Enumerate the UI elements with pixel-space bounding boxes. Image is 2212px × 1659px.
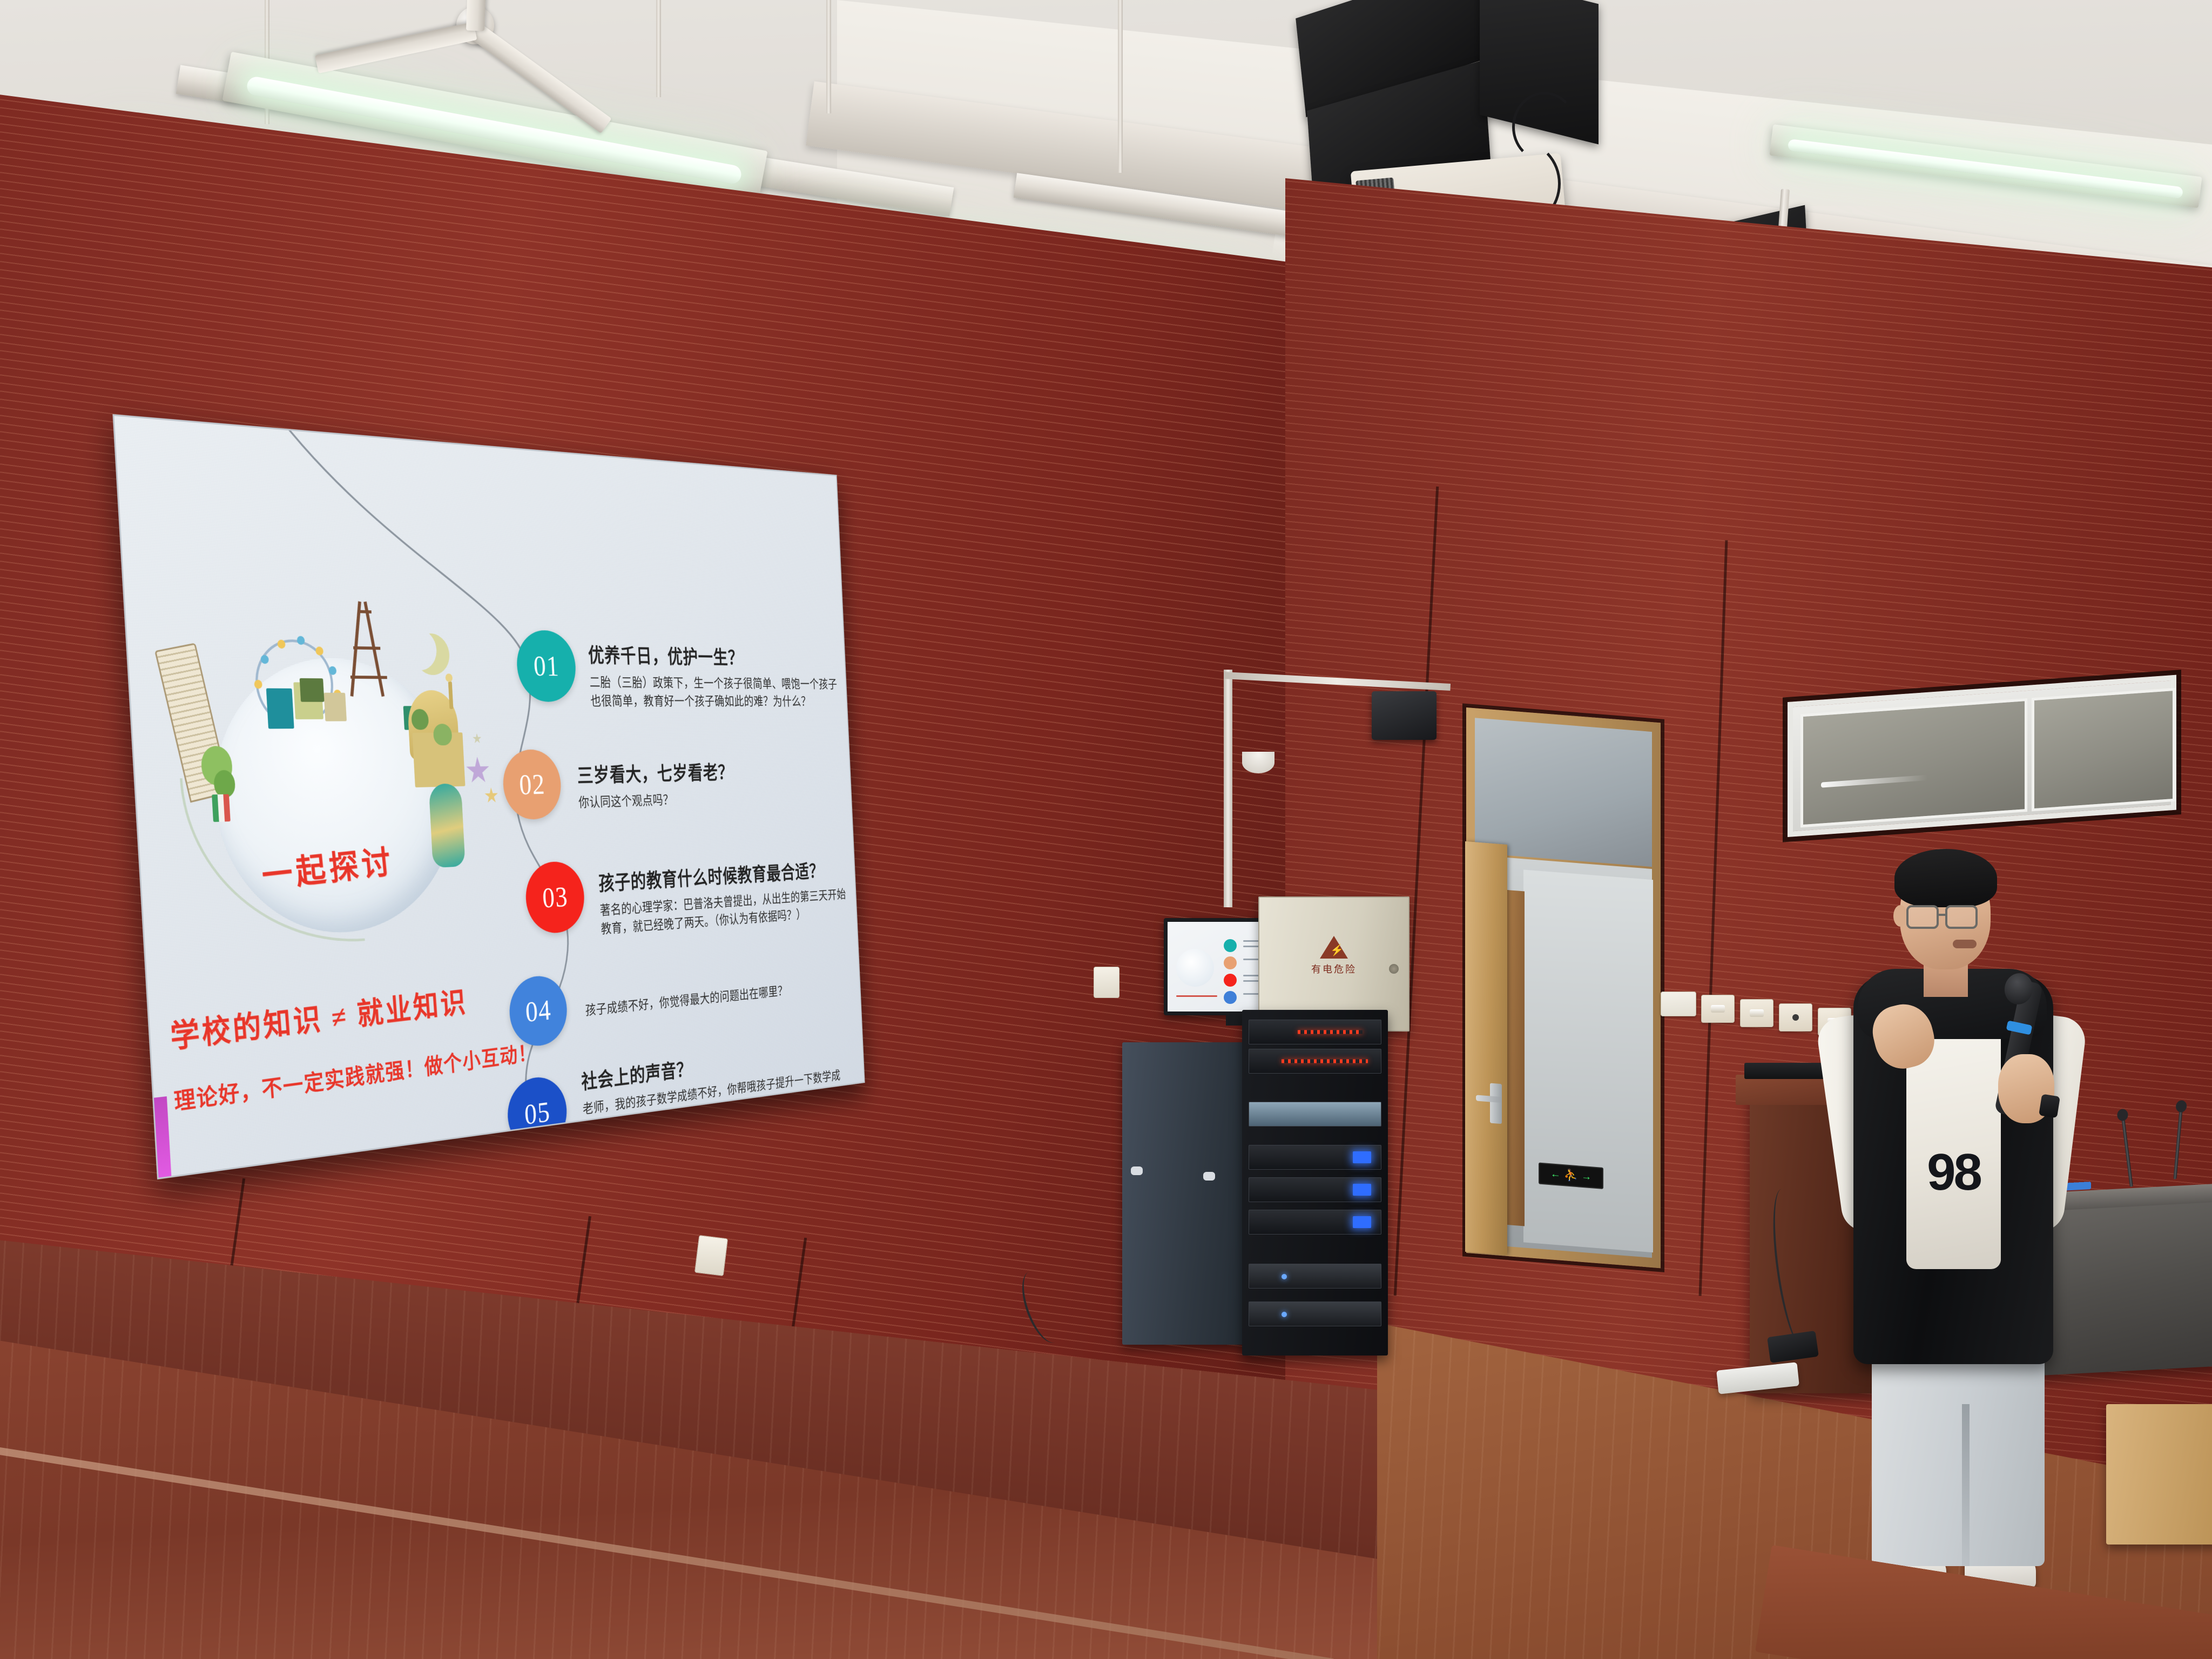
item-body-02: 你认同这个观点吗？ [578,787,825,813]
monitor-bubble-thumb [1224,956,1237,969]
timeline-text-04: 孩子成绩不好，你觉得最大的问题出在哪里？ [585,972,843,1021]
presenter-pants [1872,1328,2045,1566]
screen-magenta-artifact [154,1096,171,1178]
bubble-number-02: 02 [518,767,546,802]
rack-unit-wireless-1[interactable] [1249,1145,1381,1170]
wall-outlet[interactable] [694,1235,728,1276]
globe-illustration: 一起探讨 [147,548,508,976]
rack-blue-display [1353,1216,1371,1228]
door-leaf[interactable] [1465,841,1507,1255]
timeline-bubble-03: 03 [524,860,586,935]
item-body-01: 二胎（三胎）政策下，生一个孩子很简单、喂饱一个孩子也很简单，教育好一个孩子确如此… [589,674,847,711]
cabinet-handle[interactable] [1131,1166,1143,1175]
bubble-number-03: 03 [542,880,569,915]
slide-surface: 一起探讨 学校的知识 ≠ 就业知识 理论好，不一定实践就强！做个小互动！ 01 … [112,414,865,1179]
bubble-number-04: 04 [524,993,552,1029]
rack-unit-wireless-3[interactable] [1249,1210,1381,1235]
switch-knob[interactable] [1792,1014,1799,1021]
classroom-scene: ← ⛹ → [0,0,2212,1659]
star-icon [473,733,482,744]
wall-speaker [1372,691,1437,740]
eiffel-crossbar [358,610,372,613]
wall-switch-panel[interactable] [1779,1003,1812,1031]
presenter-hair [1894,849,1997,907]
switch-knob[interactable] [1750,1009,1764,1017]
rack-unit-bottom-2 [1249,1301,1381,1326]
wall-switch-panel[interactable] [1740,999,1773,1027]
presenter-person: 98 [1825,853,2106,1609]
ferris-bead [277,640,285,649]
security-camera [1242,752,1274,773]
eyeglasses-left-lens [1906,905,1939,929]
monitor-red-line [1176,995,1217,997]
spire-icon [448,682,454,709]
panel-lock[interactable] [1389,964,1399,974]
door-lock-plate [1490,1083,1502,1124]
crescent-moon-icon [396,624,442,676]
city-building-icon [324,693,347,721]
window-pane-right [2032,688,2175,812]
star-icon [484,787,498,804]
person-figure-icon [429,784,466,868]
eyeglasses-bridge [1938,914,1946,916]
beam-hanger-rod-3 [826,0,831,113]
equipment-mount-pole [1224,670,1232,907]
rack-unit-bottom-1 [1249,1264,1381,1289]
av-equipment-rack [1242,1010,1388,1355]
rack-blue-display [1353,1184,1371,1196]
projection-screen: 一起探讨 学校的知识 ≠ 就业知识 理论好，不一定实践就强！做个小互动！ 01 … [112,414,865,1179]
monitor-bubble-thumb [1224,974,1237,987]
item-heading-01: 优养千日，优护一生？ [588,639,845,671]
timeline-bubble-01: 01 [515,630,577,702]
wall-window [1788,675,2176,837]
rack-led-indicators [1298,1030,1363,1034]
window-pane-left [1800,698,2027,827]
presenter-ear [1893,905,1907,927]
monitor-globe-thumb [1176,949,1214,987]
rack-unit-player [1249,1102,1381,1127]
high-voltage-icon [1320,936,1348,959]
cabinet-handle[interactable] [1203,1172,1215,1181]
city-building-icon [300,678,325,702]
eyeglasses-right-lens [1945,905,1978,929]
rack-unit-mixer [1249,1049,1381,1074]
ferris-bead [260,655,269,664]
timeline-bubble-02: 02 [502,749,563,820]
flag-icon [212,794,231,822]
wristwatch [2039,1094,2060,1118]
monitor-bubble-thumb [1224,991,1237,1004]
rack-blue-display [1353,1151,1371,1163]
ferris-bead [254,680,262,689]
item-body-04: 孩子成绩不好，你觉得最大的问题出在哪里？ [585,977,842,1021]
rack-led-indicators [1282,1060,1368,1063]
ferris-bead [328,666,336,675]
city-building-icon [266,688,294,729]
timeline-text-02: 三岁看大，七岁看老？ 你认同这个观点吗？ [576,756,824,813]
window-reflection [1821,775,1927,788]
shirt-number: 98 [1927,1143,1980,1202]
spire-finial [445,673,453,682]
pants-center-seam [1962,1404,1970,1566]
electrical-warning-text: 有电危险 [1311,962,1357,976]
eiffel-crossbar [353,646,380,650]
rack-unit-amp [1249,1020,1381,1044]
room-door[interactable]: ← ⛹ → [1466,707,1661,1268]
electrical-warning-label: 有电危险 [1311,936,1357,976]
bubble-number-01: 01 [533,649,561,683]
ferris-bead [315,646,323,655]
presenter-mouth [1953,940,1977,948]
wooden-stool [2106,1404,2212,1545]
wall-switch-panel[interactable] [1701,995,1735,1023]
switch-knob[interactable] [1711,1005,1725,1013]
eiffel-crossbar [350,676,387,679]
beam-hanger-rod-2 [656,0,661,97]
ferris-bead [296,636,305,645]
side-cabinet [1122,1042,1252,1345]
timeline-text-03: 孩子的教育什么时候教育最合适？ 著名的心理学家：巴普洛夫曾提出，从出生的第三天开… [598,854,856,939]
timeline-text-01: 优养千日，优护一生？ 二胎（三胎）政策下，生一个孩子很简单、喂饱一个孩子也很简单… [588,639,847,711]
exit-arrow-left-label: ← [1550,1168,1561,1181]
exit-arrow-right-label: → [1581,1171,1591,1183]
exit-running-man-icon: ⛹ [1564,1169,1578,1183]
rack-led-dot [1282,1312,1287,1317]
rack-unit-wireless-2[interactable] [1249,1177,1381,1202]
wall-info-plate [1661,992,1696,1016]
star-icon [466,757,490,785]
rack-led-dot [1282,1274,1287,1279]
beam-hanger-rod-4 [1118,0,1123,173]
wall-outlet[interactable] [1094,967,1120,998]
item-heading-02: 三岁看大，七岁看老？ [576,756,823,788]
corridor-wall [1523,869,1653,1252]
monitor-bubble-thumb [1224,939,1237,952]
